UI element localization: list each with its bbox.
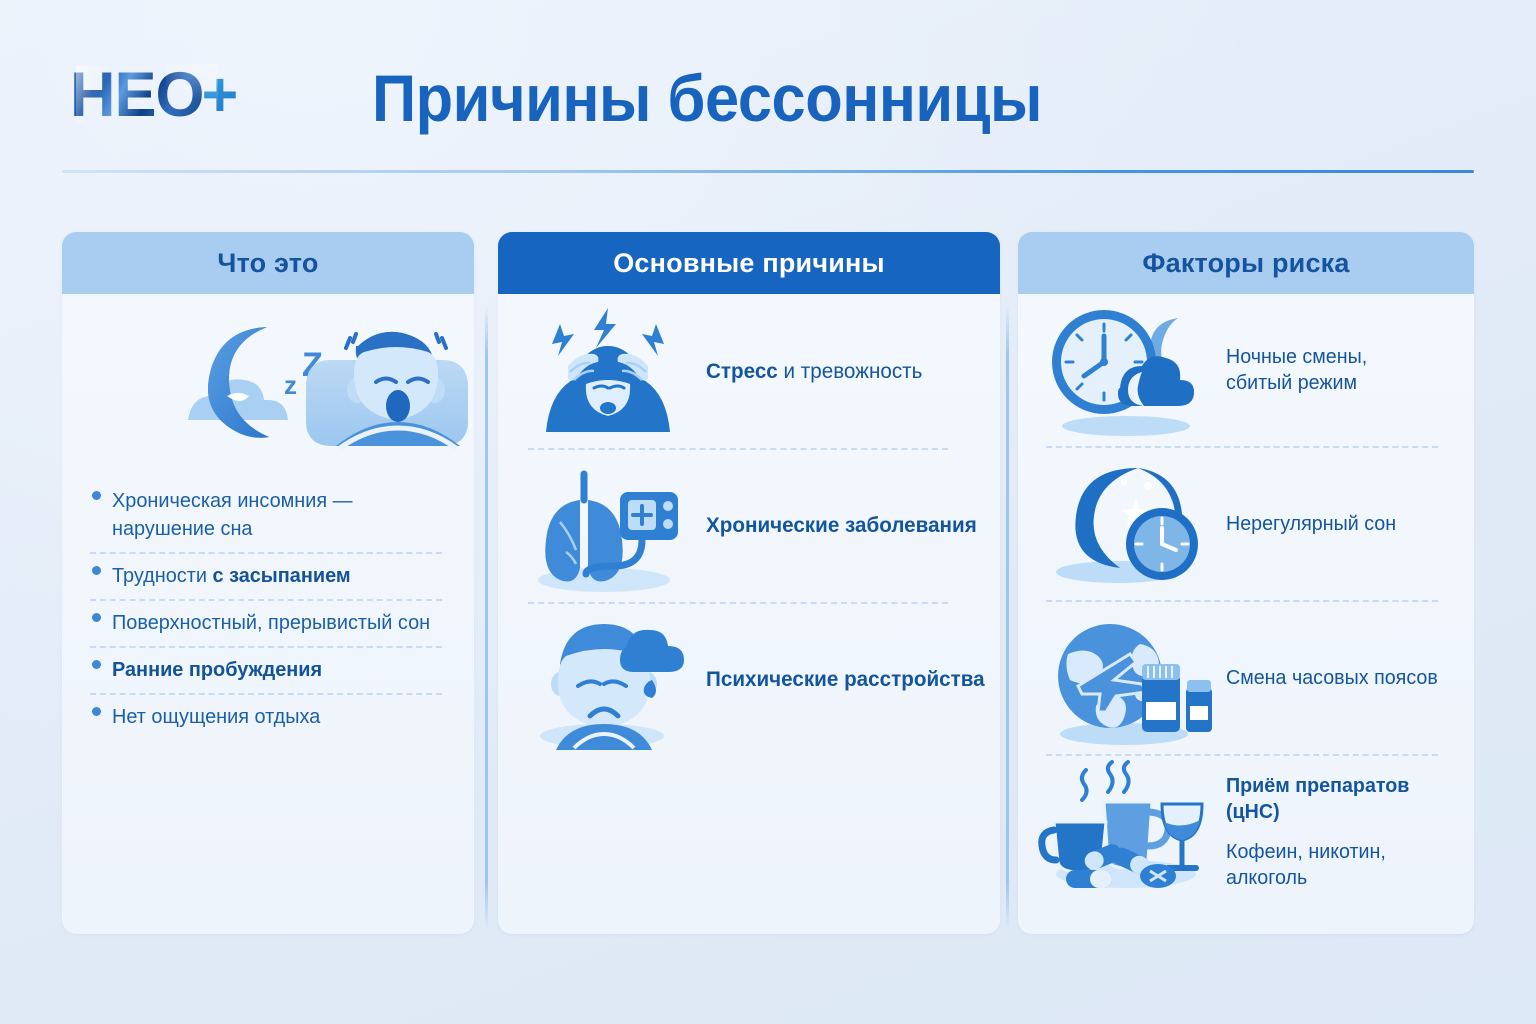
card-body-main-causes: Стресс и тревожность (498, 294, 1000, 934)
risk-label-line1: Приём препаратов (цНС) (1226, 773, 1464, 825)
cause-label-stress: Стресс и тревожность (706, 358, 922, 386)
card-body-what-is-it: z Z (62, 294, 474, 934)
bullet-dot-icon (92, 491, 101, 500)
cause-label-rest: и тревожность (778, 359, 923, 383)
risk-label-line2: Кофеин, никотин, (1226, 839, 1464, 865)
risk-label-line1: Ночные смены, (1226, 344, 1464, 370)
list-item-label-emphasis: с засыпанием (212, 564, 350, 587)
list-item-label: Поверхностный, прерывистый сон (112, 601, 444, 646)
header-divider (62, 170, 1474, 173)
risk-label-line3: алкоголь (1226, 865, 1464, 891)
risk-row-irregular-sleep: Нерегулярный сон (1018, 448, 1474, 600)
cause-row-stress: Стресс и тревожность (498, 296, 1000, 448)
brand-logo: НЕО + (70, 62, 300, 128)
risk-label-substances: Приём препаратов (цНС) Кофеин, никотин, … (1226, 773, 1464, 892)
card-what-is-it: Что это z (62, 232, 474, 934)
list-item: Хроническая инсомния — нарушение сна (86, 479, 454, 552)
bullet-dot-icon (92, 613, 101, 622)
card-header-what-is-it: Что это (62, 232, 474, 294)
cause-row-mental-disorders: Психические расстройства (498, 604, 1000, 756)
risk-label-line1: Нерегулярный сон (1226, 511, 1464, 537)
cause-label-bold: Стресс (706, 359, 778, 383)
risk-label-irregular-sleep: Нерегулярный сон (1226, 511, 1464, 537)
list-item: Поверхностный, прерывистый сон (86, 601, 454, 646)
bullet-dot-icon (92, 566, 101, 575)
page-title: Причины бессонницы (372, 58, 1209, 138)
page-header: НЕО + Причины бессонницы (0, 0, 1536, 172)
risk-row-substances: Приём препаратов (цНС) Кофеин, никотин, … (1018, 756, 1474, 908)
cause-label-mental-disorders: Психические расстройства (706, 666, 985, 694)
list-item: Трудности с засыпанием (86, 554, 454, 599)
list-item: Нет ощущения отдыха (86, 695, 454, 740)
logo-wordmark: НЕО (70, 64, 204, 127)
cause-row-chronic-disease: Хронические заболевания (498, 450, 1000, 602)
list-item-label: Хроническая инсомния — нарушение сна (112, 479, 444, 552)
risk-label-time-zones: Смена часовых поясов (1226, 665, 1464, 691)
sad-face-rain-cloud-icon (522, 610, 694, 750)
column-separator (1006, 305, 1009, 930)
risk-label-line1: Смена часовых поясов (1226, 665, 1464, 691)
stress-head-lightning-icon (522, 302, 694, 442)
crescent-stars-clock-icon (1038, 456, 1220, 592)
card-main-causes: Основные причины (498, 232, 1000, 934)
card-risk-factors: Факторы риска (1018, 232, 1474, 934)
list-item-label: Нет ощущения отдыха (112, 695, 444, 740)
risk-row-time-zones: Смена часовых поясов (1018, 602, 1474, 754)
coffee-wine-pills-icon (1038, 764, 1220, 900)
logo-plus-icon: + (202, 64, 239, 127)
bullet-dot-icon (92, 660, 101, 669)
card-header-risk-factors: Факторы риска (1018, 232, 1474, 294)
card-body-risk-factors: Ночные смены, сбитый режим (1018, 294, 1474, 934)
card-header-main-causes: Основные причины (498, 232, 1000, 294)
column-separator (485, 305, 488, 930)
clock-moon-cloud-icon (1038, 302, 1220, 438)
risk-label-line2: сбитый режим (1226, 370, 1464, 396)
svg-text:z: z (284, 370, 297, 400)
risk-row-night-shifts: Ночные смены, сбитый режим (1018, 294, 1474, 446)
lungs-blood-pressure-monitor-icon (522, 456, 694, 596)
risk-label-night-shifts: Ночные смены, сбитый режим (1226, 344, 1464, 396)
bullet-dot-icon (92, 707, 101, 716)
symptom-bullet-list: Хроническая инсомния — нарушение сна Тру… (86, 479, 454, 740)
globe-airplane-pills-icon (1038, 610, 1220, 746)
list-item-label-emphasis: Ранние пробуждения (112, 658, 322, 681)
list-item-label: Трудности (112, 564, 212, 587)
moon-zzz-and-yawning-person-illustration: z Z (62, 302, 474, 452)
list-item: Ранние пробуждения (86, 648, 454, 693)
cause-label-chronic-disease: Хронические заболевания (706, 512, 977, 540)
